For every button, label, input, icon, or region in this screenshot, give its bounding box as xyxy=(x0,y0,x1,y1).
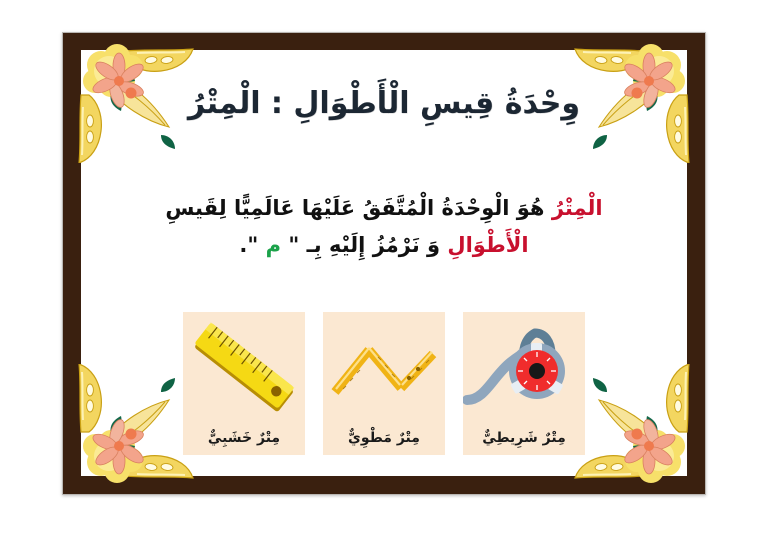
definition-text-2: وَ نَرْمُزُ إِلَيْهِ بِـ " xyxy=(288,233,440,257)
card-label-folding-ruler: مِتْرٌ مَطْوِيٌّ xyxy=(323,430,445,446)
wooden-ruler-icon xyxy=(183,316,305,416)
card-folding-ruler: مِتْرٌ مَطْوِيٌّ xyxy=(323,312,445,455)
poster-root: وِحْدَةُ قِيسِ الْأَطْوَالِ : الْمِتْرُ … xyxy=(0,0,768,542)
card-tape-measure: مِتْرٌ شَرِيطِيٌّ xyxy=(463,312,585,455)
card-label-wooden-ruler: مِتْرٌ خَشَبِيٌّ xyxy=(183,430,305,446)
definition-text-1: هُوَ الْوِحْدَةُ الْمُتَّفَقُ عَلَيْهَا … xyxy=(165,196,544,220)
page-title: وِحْدَةُ قِيسِ الْأَطْوَالِ : الْمِتْرُ xyxy=(188,86,580,121)
symbol-meter-highlight: م xyxy=(266,233,281,257)
card-label-tape-measure: مِتْرٌ شَرِيطِيٌّ xyxy=(463,430,585,446)
definition-text-3: ". xyxy=(239,233,258,257)
poster-frame: وِحْدَةُ قِيسِ الْأَطْوَالِ : الْمِتْرُ … xyxy=(62,32,706,495)
page-title-container: وِحْدَةُ قِيسِ الْأَطْوَالِ : الْمِتْرُ xyxy=(81,86,687,121)
term-meter-highlight: الْمِتْرُ xyxy=(552,196,603,220)
definition-line-2: الْأَطْوَالِ وَ نَرْمُزُ إِلَيْهِ بِـ " … xyxy=(131,227,637,264)
definition-paragraph: الْمِتْرُ هُوَ الْوِحْدَةُ الْمُتَّفَقُ … xyxy=(131,190,637,264)
tool-cards-row: مِتْرٌ شَرِيطِيٌّ xyxy=(81,312,687,455)
tape-measure-icon xyxy=(463,316,585,416)
definition-line-1: الْمِتْرُ هُوَ الْوِحْدَةُ الْمُتَّفَقُ … xyxy=(131,190,637,227)
poster-content-area: وِحْدَةُ قِيسِ الْأَطْوَالِ : الْمِتْرُ … xyxy=(81,50,687,476)
term-lengths-highlight: الْأَطْوَالِ xyxy=(447,233,528,257)
folding-ruler-icon xyxy=(323,316,445,416)
card-wooden-ruler: مِتْرٌ خَشَبِيٌّ xyxy=(183,312,305,455)
